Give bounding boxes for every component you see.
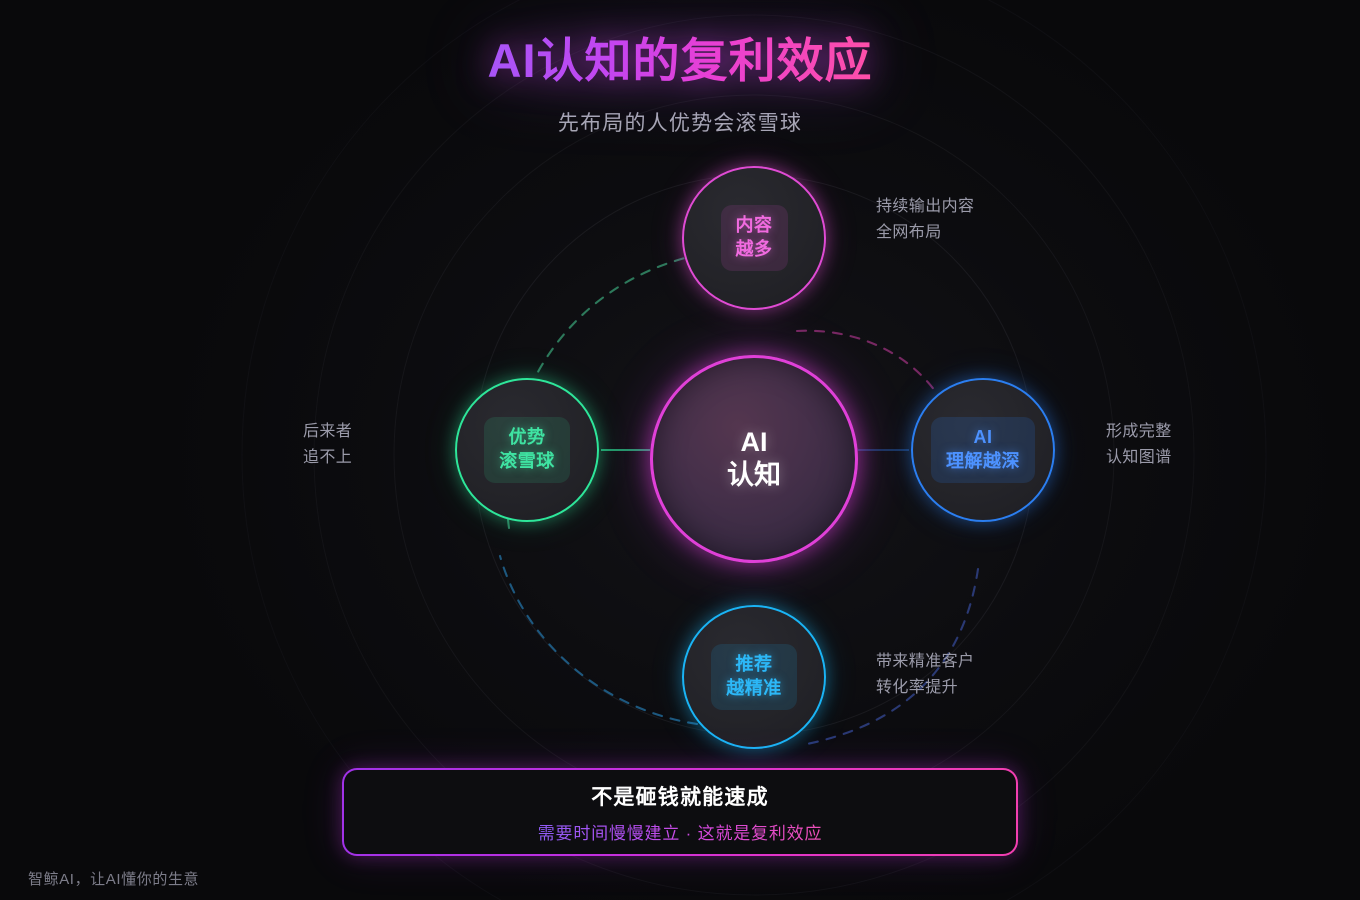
node-content-more-chip: 内容 越多 <box>721 205 788 271</box>
conclusion-banner-subline: 需要时间慢慢建立 · 这就是复利效应 <box>538 819 823 844</box>
annotation-top-right-line1: 持续输出内容 <box>876 194 974 220</box>
node-content-more[interactable]: 内容 越多 <box>682 166 826 310</box>
annotation-bottom-right: 带来精准客户 转化率提升 <box>876 649 974 701</box>
node-content-more-line1: 内容 <box>736 214 773 238</box>
annotation-left: 后来者 追不上 <box>303 419 352 471</box>
dashed-arc-bottom-to-left <box>500 556 697 724</box>
annotation-left-line1: 后来者 <box>303 419 352 445</box>
node-content-more-line2: 越多 <box>736 238 773 262</box>
center-node-ai-cognition[interactable]: AI 认知 <box>650 355 858 563</box>
node-ai-understands-deeper[interactable]: AI 理解越深 <box>911 378 1055 522</box>
node-recommend-accurate[interactable]: 推荐 越精准 <box>682 605 826 749</box>
annotation-top-right-line2: 全网布局 <box>876 220 974 246</box>
node-recommend-accurate-chip: 推荐 越精准 <box>711 644 797 710</box>
annotation-left-line2: 追不上 <box>303 445 352 471</box>
node-advantage-snowball[interactable]: 优势 滚雪球 <box>455 378 599 522</box>
node-advantage-snowball-line1: 优势 <box>499 426 555 450</box>
annotation-right-line2: 认知图谱 <box>1106 445 1172 471</box>
title-block: AI认知的复利效应 先布局的人优势会滚雪球 <box>0 34 1360 137</box>
page-title: AI认知的复利效应 <box>488 34 873 89</box>
node-advantage-snowball-chip: 优势 滚雪球 <box>484 417 570 483</box>
node-ai-understands-deeper-line2: 理解越深 <box>946 450 1020 474</box>
node-recommend-accurate-line2: 越精准 <box>726 677 782 701</box>
annotation-top-right: 持续输出内容 全网布局 <box>876 194 974 246</box>
node-advantage-snowball-line2: 滚雪球 <box>499 450 555 474</box>
annotation-right: 形成完整 认知图谱 <box>1106 419 1172 471</box>
node-recommend-accurate-line1: 推荐 <box>726 653 782 677</box>
conclusion-banner-headline: 不是砸钱就能速成 <box>591 781 769 811</box>
center-node-label-line1: AI <box>727 426 781 459</box>
center-node-label-line2: 认知 <box>727 459 781 492</box>
center-node-label: AI 认知 <box>727 426 781 492</box>
footer-brand: 智鲸AI，让AI懂你的生意 <box>28 868 199 889</box>
node-ai-understands-deeper-line1: AI <box>946 426 1020 450</box>
annotation-bottom-right-line1: 带来精准客户 <box>876 649 974 675</box>
conclusion-banner-inner: 不是砸钱就能速成 需要时间慢慢建立 · 这就是复利效应 <box>344 770 1016 854</box>
annotation-bottom-right-line2: 转化率提升 <box>876 675 974 701</box>
conclusion-banner: 不是砸钱就能速成 需要时间慢慢建立 · 这就是复利效应 <box>342 768 1018 856</box>
node-ai-understands-deeper-chip: AI 理解越深 <box>931 417 1035 483</box>
page-subtitle: 先布局的人优势会滚雪球 <box>0 107 1360 137</box>
slide-canvas: AI认知的复利效应 先布局的人优势会滚雪球 AI 认知 内容 越多 优势 滚雪球… <box>0 0 1360 900</box>
annotation-right-line1: 形成完整 <box>1106 419 1172 445</box>
